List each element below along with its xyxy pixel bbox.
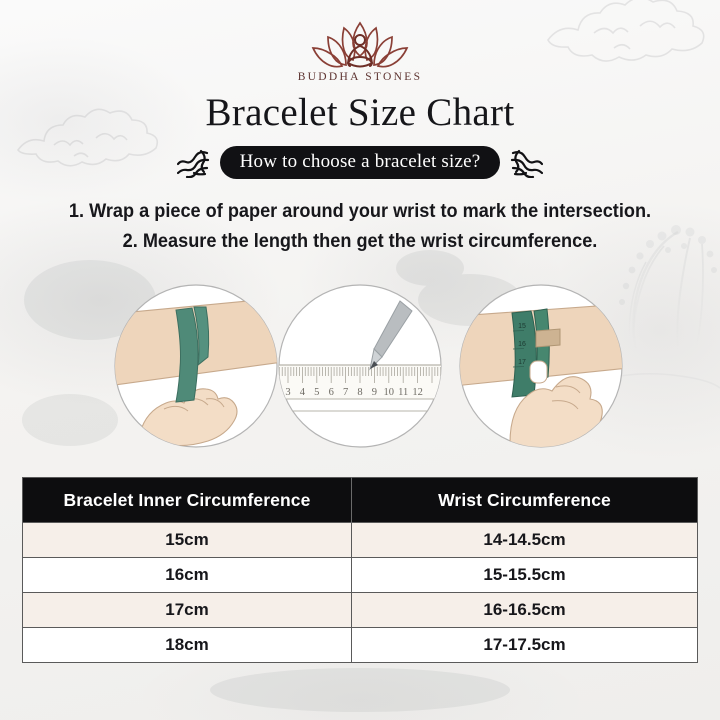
ruler-tick-label: 8 xyxy=(357,387,362,398)
table-row: 17cm16-16.5cm xyxy=(23,593,698,628)
table-row: 16cm15-15.5cm xyxy=(23,558,698,593)
page-title: Bracelet Size Chart xyxy=(0,90,720,135)
ruler-tick-label: 12 xyxy=(412,387,423,398)
instruction-line-2: 2. Measure the length then get the wrist… xyxy=(25,226,695,256)
brand-name: BUDDHA STONES xyxy=(0,71,720,83)
table-header-row: Bracelet Inner Circumference Wrist Circu… xyxy=(23,478,698,523)
subtitle-pill: How to choose a bracelet size? xyxy=(220,146,501,179)
cell-wrist: 15-15.5cm xyxy=(352,558,698,593)
cell-bracelet: 17cm xyxy=(23,593,352,628)
ruler-tick-label: 4 xyxy=(300,387,306,398)
table-row: 18cm17-17.5cm xyxy=(23,628,698,663)
column-header-wrist: Wrist Circumference xyxy=(352,478,698,523)
tape-mark-labels: 151617 xyxy=(518,323,526,366)
wrist-with-measuring-tape-icon: 151617 xyxy=(456,283,626,449)
ruler-tick-label: 5 xyxy=(314,387,319,398)
ruler-and-pencil-icon: 3456789101112 xyxy=(278,283,442,449)
bracelet-size-table: Bracelet Inner Circumference Wrist Circu… xyxy=(22,477,698,663)
column-header-bracelet: Bracelet Inner Circumference xyxy=(23,478,352,523)
ruler-tick-label: 9 xyxy=(372,387,377,398)
tape-mark-label: 16 xyxy=(518,341,526,348)
illustrations-row: 3456789101112 xyxy=(0,283,720,451)
cell-wrist: 16-16.5cm xyxy=(352,593,698,628)
cell-wrist: 14-14.5cm xyxy=(352,523,698,558)
wrist-with-paper-strip-icon xyxy=(114,283,278,449)
instructions-block: 1. Wrap a piece of paper around your wri… xyxy=(0,196,720,256)
brand-logo: BUDDHA STONES xyxy=(0,18,720,83)
wrap-paper-around-wrist-illustration xyxy=(114,283,278,454)
table-body: 15cm14-14.5cm16cm15-15.5cm17cm16-16.5cm1… xyxy=(23,523,698,663)
ruler-tick-label: 6 xyxy=(329,387,334,398)
curl-ornament-left-icon xyxy=(177,148,211,178)
lotus-meditation-icon xyxy=(304,18,416,70)
cell-bracelet: 16cm xyxy=(23,558,352,593)
cell-bracelet: 18cm xyxy=(23,628,352,663)
curl-ornament-right-icon xyxy=(509,148,543,178)
tape-mark-label: 15 xyxy=(518,323,526,330)
tape-mark-label: 17 xyxy=(518,359,526,366)
ruler-tick-label: 3 xyxy=(285,387,290,398)
measure-with-ruler-illustration: 3456789101112 xyxy=(278,283,442,454)
ruler-tick-label: 7 xyxy=(343,387,348,398)
cell-wrist: 17-17.5cm xyxy=(352,628,698,663)
ruler-ticks xyxy=(278,367,442,383)
ruler-tick-label: 10 xyxy=(384,387,395,398)
measure-wrist-with-tape-illustration: 151617 xyxy=(456,283,626,454)
ruler-tick-label: 11 xyxy=(398,387,408,398)
subtitle-row: How to choose a bracelet size? xyxy=(0,146,720,179)
instruction-line-1: 1. Wrap a piece of paper around your wri… xyxy=(25,196,695,226)
table-row: 15cm14-14.5cm xyxy=(23,523,698,558)
cell-bracelet: 15cm xyxy=(23,523,352,558)
